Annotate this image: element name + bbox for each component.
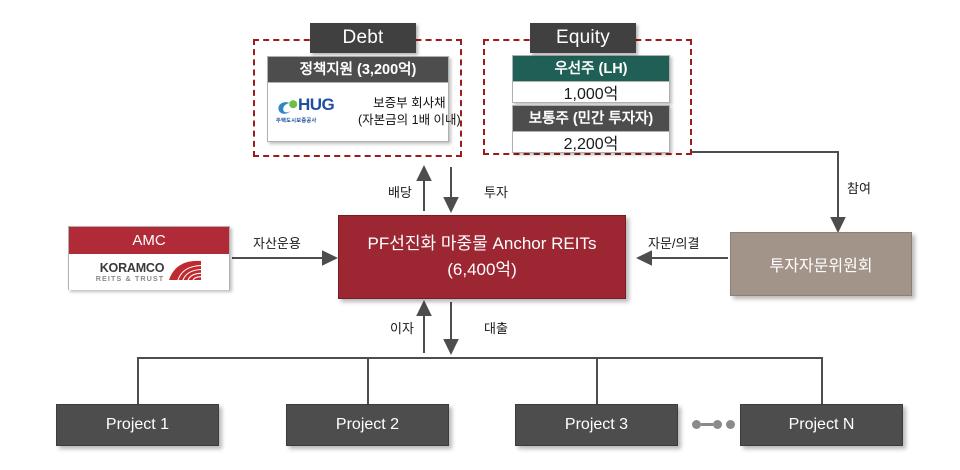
koramco-logo: KORAMCO REITS & TRUST <box>69 254 229 290</box>
hug-wordmark: HUG <box>298 95 334 115</box>
koramco-fan-icon <box>168 260 202 282</box>
preferred-share-body: 1,000억 <box>513 82 669 102</box>
label-asset-management: 자산운용 <box>253 233 301 252</box>
preferred-share-header: 우선주 (LH) <box>513 56 669 82</box>
project-label-2: Project 2 <box>336 416 399 434</box>
project-box-n: Project N <box>740 404 903 446</box>
amc-card: AMC KORAMCO REITS & TRUST <box>68 226 230 290</box>
project-box-1: Project 1 <box>56 404 219 446</box>
ellipsis-dot-3 <box>726 420 735 429</box>
project-label-3: Project 3 <box>565 416 628 434</box>
debt-group-label: Debt <box>343 27 384 48</box>
policy-support-body: HUG 주택도시보증공사 보증부 회사채 (자본금의 1배 이내) <box>268 83 448 141</box>
bond-caption-line1: 보증부 회사채 <box>358 95 461 112</box>
project-drop-n <box>821 357 823 407</box>
project-drop-2 <box>367 357 369 407</box>
amc-logo-body: KORAMCO REITS & TRUST <box>69 254 229 290</box>
project-drop-1 <box>137 357 139 407</box>
equity-group-tab: Equity <box>530 23 636 53</box>
project-ellipsis <box>692 420 735 429</box>
label-interest: 이자 <box>390 318 414 337</box>
label-participation: 참여 <box>847 178 871 197</box>
preferred-share-card: 우선주 (LH) 1,000억 <box>512 55 670 103</box>
common-share-body: 2,200억 <box>513 132 669 152</box>
project-box-2: Project 2 <box>286 404 449 446</box>
bond-caption: 보증부 회사채 (자본금의 1배 이내) <box>358 95 461 129</box>
anchor-reits-amount: (6,400억) <box>447 257 517 283</box>
ellipsis-bar <box>701 423 713 426</box>
label-loan: 대출 <box>484 318 508 337</box>
common-share-header: 보통주 (민간 투자자) <box>513 106 669 132</box>
label-investment: 투자 <box>484 182 508 201</box>
common-share-card: 보통주 (민간 투자자) 2,200억 <box>512 105 670 153</box>
project-label-1: Project 1 <box>106 416 169 434</box>
anchor-reits-title: PF선진화 마중물 Anchor REITs <box>368 231 597 257</box>
policy-support-card: 정책지원 (3,200억) HUG 주택도시보증공사 보증부 회사채 (자본금의… <box>267 56 449 142</box>
committee-label: 투자자문위원회 <box>769 252 872 276</box>
debt-group-tab: Debt <box>310 23 416 53</box>
project-drop-3 <box>596 357 598 407</box>
policy-support-header: 정책지원 (3,200억) <box>268 57 448 83</box>
label-dividend: 배당 <box>388 182 412 201</box>
ellipsis-dot-2 <box>713 420 722 429</box>
ellipsis-dot-1 <box>692 420 701 429</box>
project-bus-horizontal <box>137 357 823 359</box>
common-share-amount: 2,200억 <box>513 130 669 154</box>
koramco-tagline: REITS & TRUST <box>96 275 165 283</box>
equity-group-label: Equity <box>556 27 610 48</box>
investment-advisory-committee-box: 투자자문위원회 <box>730 232 912 296</box>
hug-subtext: 주택도시보증공사 <box>276 117 317 124</box>
diagram-canvas: Debt 정책지원 (3,200억) HUG 주택도시보증공사 보증부 회사채 … <box>0 0 960 470</box>
hug-swoosh-icon <box>276 99 300 115</box>
amc-header: AMC <box>69 227 229 254</box>
hug-logo: HUG 주택도시보증공사 <box>276 92 352 132</box>
preferred-share-amount: 1,000억 <box>513 80 669 104</box>
koramco-wordmark: KORAMCO <box>96 262 165 275</box>
bond-caption-line2: (자본금의 1배 이내) <box>358 112 461 129</box>
anchor-reits-box: PF선진화 마중물 Anchor REITs (6,400억) <box>338 215 626 299</box>
project-label-n: Project N <box>789 416 855 434</box>
project-box-3: Project 3 <box>515 404 678 446</box>
label-advice-resolution: 자문/의결 <box>648 233 699 252</box>
